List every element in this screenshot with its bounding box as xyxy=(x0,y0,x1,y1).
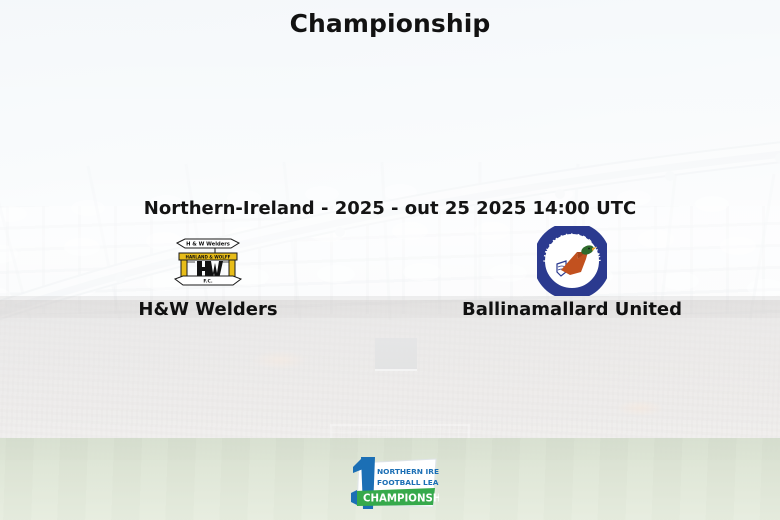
match-preview-page: Championship Northern-Ireland - 2025 - o… xyxy=(0,0,780,520)
svg-text:CHAMPIONSHIP: CHAMPIONSHIP xyxy=(363,494,439,505)
page-content: Championship Northern-Ireland - 2025 - o… xyxy=(0,0,780,520)
away-team-name: Ballinamallard United xyxy=(462,299,682,320)
svg-text:FOOTBALL LEAGUE: FOOTBALL LEAGUE xyxy=(377,478,439,487)
away-crest-wrap: BALLINAMALLARD UNITED FOOTBALL CLUB xyxy=(535,232,609,290)
svg-text:H & W Welders: H & W Welders xyxy=(186,241,230,247)
hw-welders-crest-icon: H & W Welders HARLAND & WOLFF xyxy=(171,233,245,290)
home-crest-wrap: H & W Welders HARLAND & WOLFF xyxy=(171,232,245,290)
nifl-championship-logo-icon: NORTHERN IRELAND FOOTBALL LEAGUE CHAMPIO… xyxy=(341,455,439,513)
svg-text:HARLAND & WOLFF: HARLAND & WOLFF xyxy=(186,254,231,259)
ballinamallard-united-crest-icon: BALLINAMALLARD UNITED FOOTBALL CLUB xyxy=(537,226,607,296)
page-title: Championship xyxy=(0,9,780,38)
teams-row: H & W Welders HARLAND & WOLFF xyxy=(0,232,780,320)
match-meta-line: Northern-Ireland - 2025 - out 25 2025 14… xyxy=(0,198,780,219)
league-logo[interactable]: NORTHERN IRELAND FOOTBALL LEAGUE CHAMPIO… xyxy=(341,455,439,513)
home-team-name: H&W Welders xyxy=(138,299,277,320)
svg-text:NORTHERN IRELAND: NORTHERN IRELAND xyxy=(377,467,439,476)
home-team[interactable]: H & W Welders HARLAND & WOLFF xyxy=(58,232,358,320)
away-team[interactable]: BALLINAMALLARD UNITED FOOTBALL CLUB xyxy=(422,232,722,320)
svg-text:F.C.: F.C. xyxy=(203,278,213,284)
